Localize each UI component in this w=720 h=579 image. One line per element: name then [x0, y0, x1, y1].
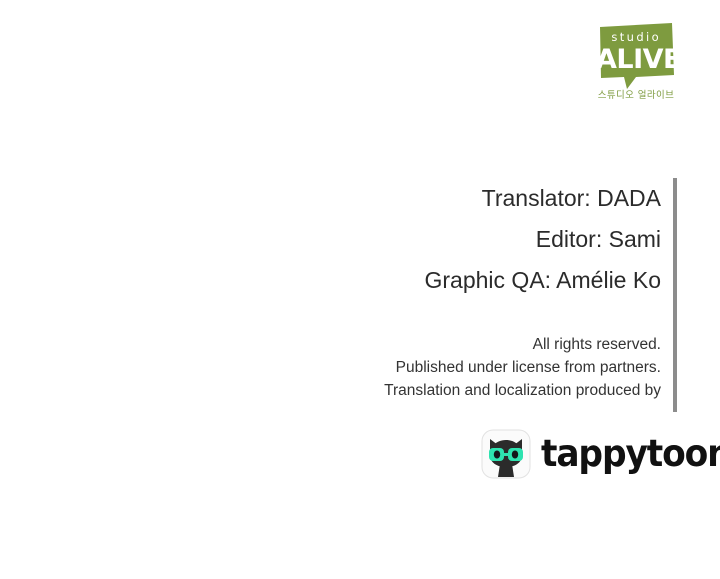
- rights-notice-block: All rights reserved. Published under lic…: [180, 333, 661, 402]
- tappytoon-logo: tappytoon: [481, 427, 677, 481]
- rights-line-all-rights: All rights reserved.: [180, 333, 661, 356]
- credits-block: Translator: DADA Editor: Sami Graphic QA…: [200, 178, 661, 301]
- vertical-divider: [673, 178, 677, 412]
- alive-word: ALIVE: [596, 45, 674, 75]
- credit-line-editor: Editor: Sami: [200, 219, 661, 260]
- credit-line-translator: Translator: DADA: [200, 178, 661, 219]
- credit-line-graphic-qa: Graphic QA: Amélie Ko: [200, 260, 661, 301]
- studio-alive-korean-subtitle: 스튜디오 얼라이브: [596, 90, 676, 101]
- tappytoon-cat-icon: [481, 429, 531, 479]
- studio-word: studio: [596, 31, 674, 43]
- studio-alive-logo: studio ALIVE 스튜디오 얼라이브: [596, 20, 680, 112]
- rights-line-produced-by: Translation and localization produced by: [180, 379, 661, 402]
- credits-page: studio ALIVE 스튜디오 얼라이브 Translator: DADA …: [0, 0, 720, 579]
- tappytoon-wordmark: tappytoon: [541, 434, 720, 474]
- cat-face-icon: [481, 429, 531, 479]
- rights-line-license: Published under license from partners.: [180, 356, 661, 379]
